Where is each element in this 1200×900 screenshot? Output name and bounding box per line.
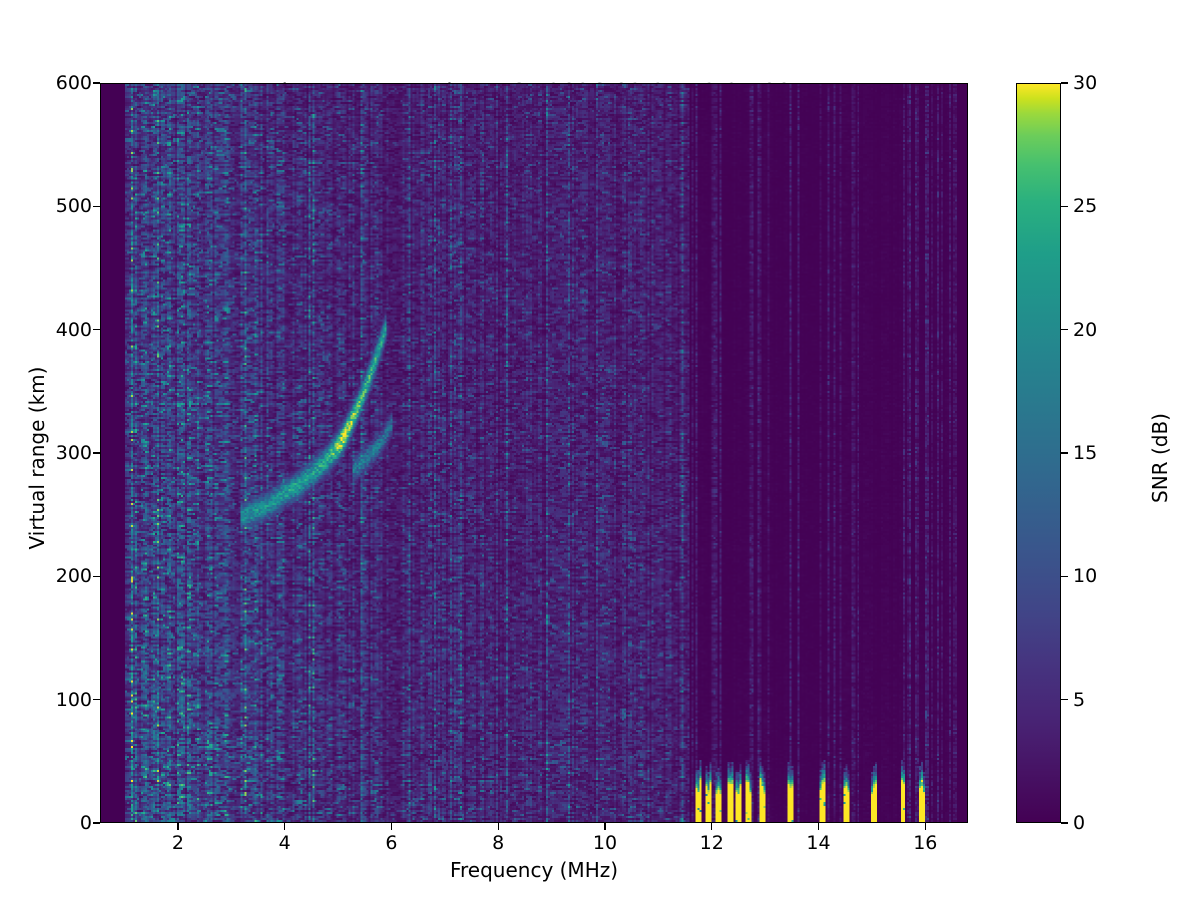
ionogram-heatmap: [101, 84, 967, 822]
x-tick-label: 12: [700, 834, 724, 853]
colorbar-tick-label: 20: [1073, 321, 1097, 340]
colorbar-tick-mark: [1061, 822, 1068, 823]
colorbar-tick-label: 25: [1073, 197, 1097, 216]
colorbar: [1016, 83, 1061, 823]
x-tick-mark: [711, 823, 712, 830]
ionogram-figure: IRF Kiruna Ionosonde KI167 2026-02-21 12…: [0, 0, 1200, 900]
colorbar-tick-mark: [1061, 206, 1068, 207]
x-tick-label: 6: [385, 834, 397, 853]
colorbar-tick-label: 10: [1073, 567, 1097, 586]
colorbar-tick-label: 30: [1073, 74, 1097, 93]
x-tick-label: 10: [593, 834, 617, 853]
colorbar-tick-mark: [1061, 329, 1068, 330]
y-tick-label: 200: [56, 567, 92, 586]
y-tick-label: 100: [56, 691, 92, 710]
x-tick-label: 2: [172, 834, 184, 853]
y-tick-label: 400: [56, 321, 92, 340]
ionogram-canvas: [101, 84, 967, 822]
y-tick-mark: [93, 699, 100, 700]
y-tick-mark: [93, 329, 100, 330]
colorbar-tick-label: 5: [1073, 691, 1085, 710]
y-tick-mark: [93, 822, 100, 823]
x-tick-mark: [818, 823, 819, 830]
ionogram-axes[interactable]: [100, 83, 968, 823]
y-tick-mark: [93, 82, 100, 83]
colorbar-tick-mark: [1061, 699, 1068, 700]
x-tick-label: 16: [913, 834, 937, 853]
x-tick-mark: [391, 823, 392, 830]
y-tick-mark: [93, 452, 100, 453]
y-axis-label: Virtual range (km): [25, 258, 49, 658]
x-tick-label: 14: [806, 834, 830, 853]
x-axis-label: Frequency (MHz): [100, 858, 968, 882]
y-tick-label: 300: [56, 444, 92, 463]
colorbar-tick-label: 0: [1073, 814, 1085, 833]
y-tick-mark: [93, 206, 100, 207]
colorbar-tick-mark: [1061, 576, 1068, 577]
x-tick-mark: [284, 823, 285, 830]
x-tick-label: 8: [492, 834, 504, 853]
colorbar-tick-mark: [1061, 82, 1068, 83]
colorbar-tick-mark: [1061, 452, 1068, 453]
x-tick-mark: [925, 823, 926, 830]
y-tick-label: 500: [56, 197, 92, 216]
x-tick-mark: [498, 823, 499, 830]
colorbar-label: SNR (dB): [1148, 308, 1172, 608]
y-tick-label: 0: [80, 814, 92, 833]
y-tick-mark: [93, 576, 100, 577]
x-tick-mark: [177, 823, 178, 830]
colorbar-tick-label: 15: [1073, 444, 1097, 463]
x-tick-label: 4: [279, 834, 291, 853]
x-tick-mark: [604, 823, 605, 830]
y-tick-label: 600: [56, 74, 92, 93]
